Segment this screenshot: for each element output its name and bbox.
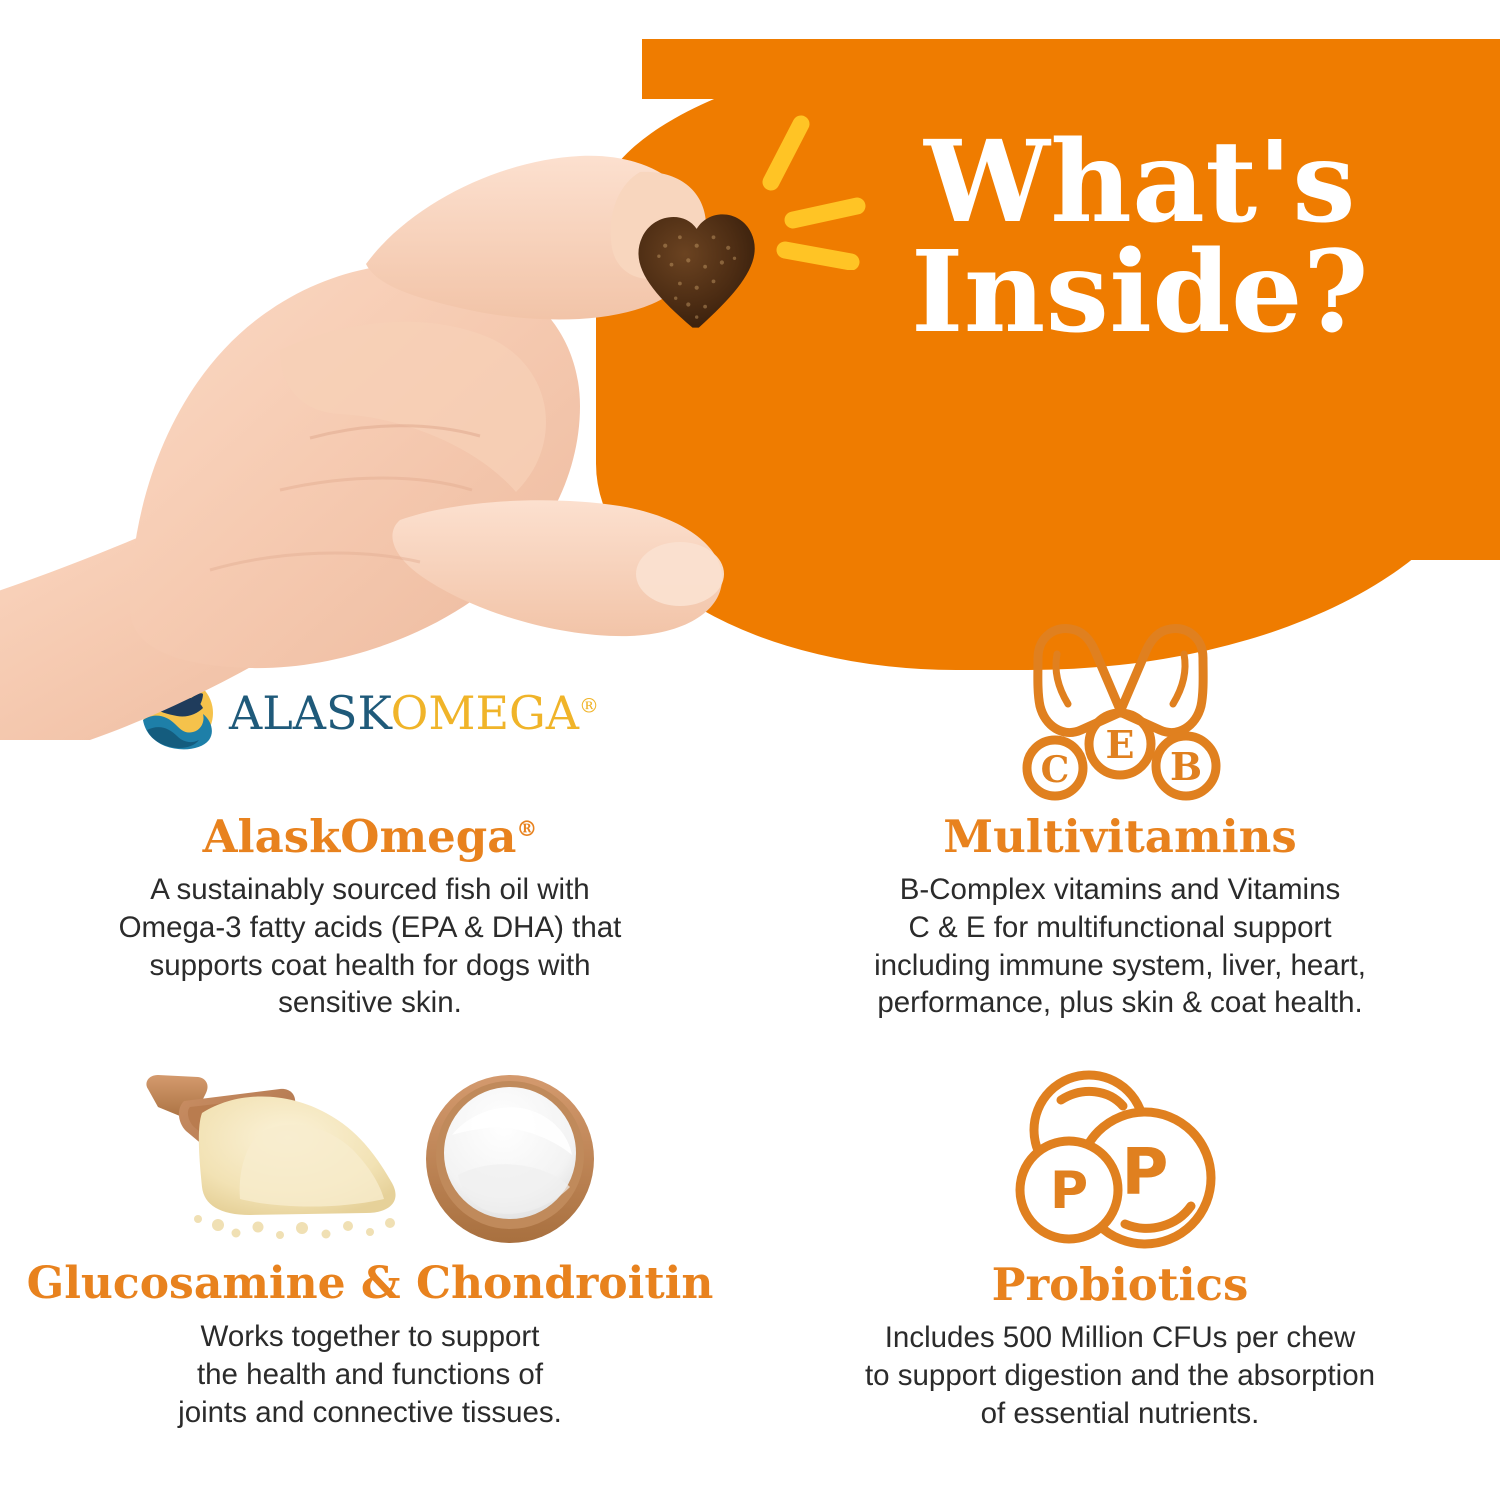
- ingredient-title-alaskomega: AlaskOmega®: [10, 814, 730, 859]
- vitamin-label-e: E: [1105, 722, 1134, 767]
- ingredient-title-text: AlaskOmega: [203, 810, 517, 863]
- ingredient-title-probiotics: Probiotics: [760, 1262, 1480, 1307]
- ingredient-body-probiotics: Includes 500 Million CFUs per chew to su…: [760, 1319, 1480, 1432]
- ingredient-title-multivitamins: Multivitamins: [760, 814, 1480, 859]
- capsules-vitamins-icon: C E B: [1013, 620, 1228, 805]
- probiotics-visual: P P: [760, 1063, 1480, 1258]
- ingredient-body-multivitamins: B-Complex vitamins and Vitamins C & E fo…: [760, 871, 1480, 1022]
- vitamin-label-b: B: [1169, 744, 1201, 789]
- hero-title-line-2: Inside?: [860, 238, 1420, 348]
- ingredient-body-alaskomega: A sustainably sourced fish oil with Omeg…: [10, 871, 730, 1022]
- infographic-canvas: What's Inside? ALASKOMEGA®: [0, 0, 1500, 1500]
- multivitamins-visual: C E B: [760, 615, 1480, 810]
- sparkle-rays-icon: [755, 110, 875, 270]
- ingredient-title-glucosamine: Glucosamine & Chondroitin: [10, 1262, 730, 1306]
- ingredient-card-multivitamins: C E B Multivitamins B-Complex vitamins a…: [760, 615, 1480, 1022]
- ingredient-card-probiotics: P P Probiotics Includes 500 Million CFUs…: [760, 1063, 1480, 1432]
- page-title: What's Inside?: [860, 128, 1420, 348]
- ingredient-body-glucosamine: Works together to support the health and…: [10, 1318, 730, 1431]
- vitamin-label-c: C: [1040, 749, 1069, 791]
- hand-holding-treat-image: [0, 50, 760, 750]
- probiotic-label-large: P: [1121, 1136, 1168, 1210]
- ingredient-card-glucosamine: Glucosamine & Chondroitin Works together…: [10, 1063, 730, 1431]
- title-registered-mark: ®: [516, 816, 537, 841]
- glucosamine-powder-image: [10, 1063, 730, 1258]
- probiotic-label-small: P: [1049, 1161, 1087, 1221]
- probiotic-cells-icon: P P: [1013, 1066, 1228, 1256]
